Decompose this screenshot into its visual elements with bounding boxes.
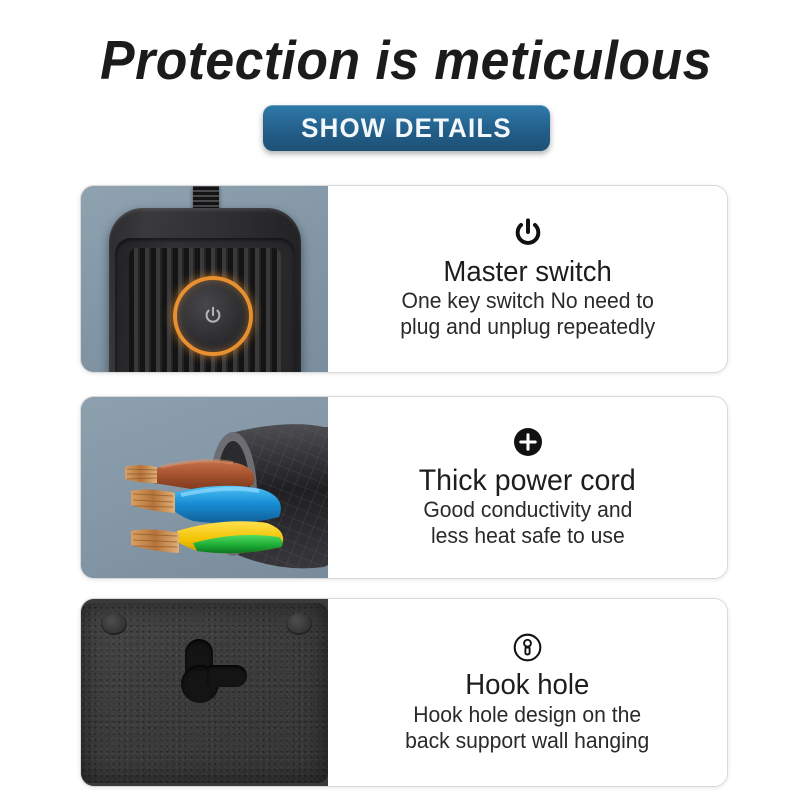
feature-card-hook-hole: Hook hole Hook hole design on the back s… [80, 598, 728, 787]
illuminated-switch-ring [173, 276, 253, 356]
feature-description-line: One key switch No need to [400, 288, 655, 314]
rubber-foot [286, 613, 312, 635]
feature-card-power-cord: Thick power cord Good conductivity and l… [80, 396, 728, 579]
feature-description: Good conductivity and less heat safe to … [423, 497, 632, 549]
feature-title: Master switch [443, 256, 611, 288]
feature-description-line: plug and unplug repeatedly [400, 314, 655, 340]
feature-card-text: Hook hole Hook hole design on the back s… [328, 599, 727, 786]
feature-card-master-switch: Master switch One key switch No need to … [80, 185, 728, 373]
feature-description: Hook hole design on the back support wal… [405, 702, 649, 754]
rubber-foot [101, 613, 127, 635]
feature-title: Hook hole [465, 669, 589, 701]
feature-description-line: Good conductivity and [423, 497, 632, 523]
keyhole-icon [508, 627, 548, 667]
back-panel-surface [81, 603, 328, 783]
page-title: Protection is meticulous [24, 28, 787, 92]
feature-card-text: Thick power cord Good conductivity and l… [328, 397, 727, 578]
power-icon [508, 214, 548, 254]
feature-description-line: back support wall hanging [405, 728, 649, 754]
feature-description-line: less heat safe to use [423, 523, 632, 549]
cta-container: SHOW DETAILS [0, 105, 812, 151]
plus-circle-icon [508, 422, 548, 462]
feature-title: Thick power cord [419, 464, 636, 498]
power-cord-wires-photo [81, 397, 328, 578]
feature-description: One key switch No need to plug and unplu… [400, 288, 655, 340]
show-details-button[interactable]: SHOW DETAILS [262, 105, 549, 151]
feature-card-text: Master switch One key switch No need to … [328, 186, 727, 372]
hook-hole-back-panel-photo [81, 599, 328, 786]
hook-hole-arm [207, 665, 247, 687]
power-strip-switch-photo [81, 186, 328, 372]
feature-description-line: Hook hole design on the [405, 702, 649, 728]
